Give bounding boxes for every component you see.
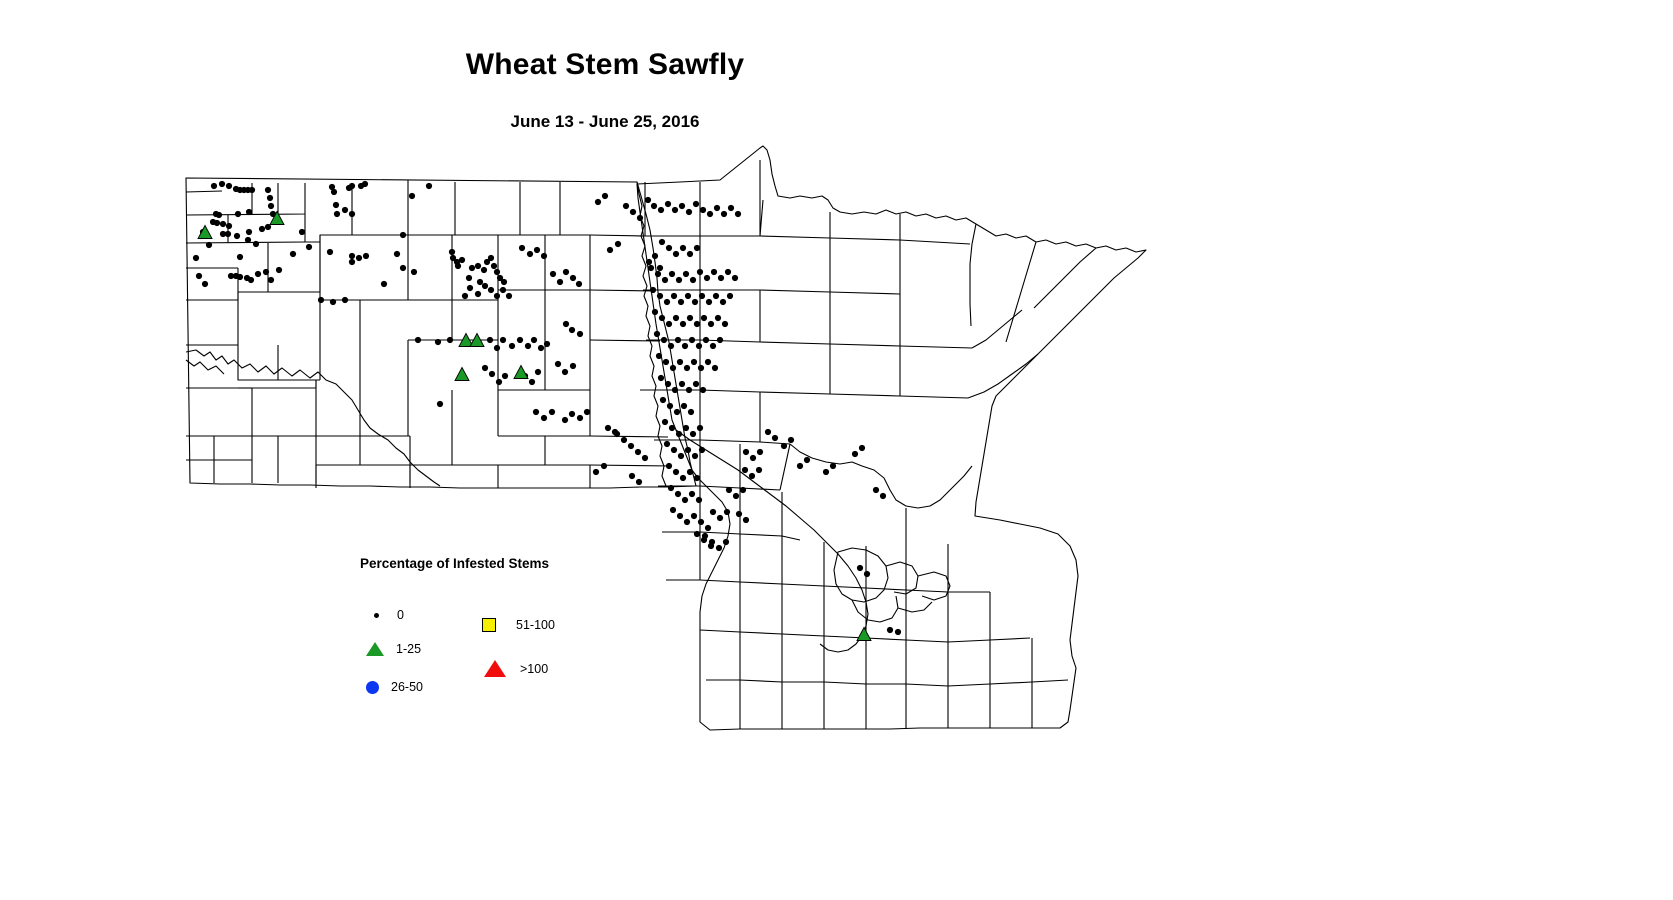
map-marker-0 bbox=[757, 449, 763, 455]
map-marker-0 bbox=[246, 209, 252, 215]
map-marker-0 bbox=[562, 417, 568, 423]
map-marker-0 bbox=[660, 397, 666, 403]
map-marker-0 bbox=[615, 241, 621, 247]
map-marker-0 bbox=[645, 197, 651, 203]
map-marker-0 bbox=[691, 513, 697, 519]
map-marker-0 bbox=[743, 449, 749, 455]
map-marker-0 bbox=[605, 425, 611, 431]
map-marker-0 bbox=[675, 491, 681, 497]
map-marker-0 bbox=[859, 445, 865, 451]
legend-item-51-100[interactable]: 51-100 bbox=[482, 618, 555, 632]
map-marker-0 bbox=[659, 315, 665, 321]
map-marker-0 bbox=[333, 202, 339, 208]
map-page: Wheat Stem Sawfly June 13 - June 25, 201… bbox=[0, 0, 1673, 900]
map-marker-0 bbox=[459, 257, 465, 263]
map-marker-0 bbox=[723, 539, 729, 545]
legend-item-0[interactable]: 0 bbox=[374, 608, 404, 622]
map-container bbox=[0, 0, 1673, 900]
legend-item-over-100[interactable]: >100 bbox=[484, 660, 548, 677]
map-marker-0 bbox=[462, 293, 468, 299]
map-marker-0 bbox=[501, 279, 507, 285]
map-marker-0 bbox=[263, 269, 269, 275]
map-marker-0 bbox=[657, 293, 663, 299]
map-marker-0 bbox=[716, 545, 722, 551]
map-marker-0 bbox=[666, 245, 672, 251]
map-marker-0 bbox=[349, 211, 355, 217]
map-marker-0 bbox=[494, 269, 500, 275]
map-marker-0 bbox=[489, 371, 495, 377]
map-marker-0 bbox=[318, 297, 324, 303]
map-marker-0 bbox=[727, 293, 733, 299]
map-marker-0 bbox=[541, 415, 547, 421]
map-marker-0 bbox=[694, 321, 700, 327]
map-marker-0 bbox=[481, 267, 487, 273]
map-marker-0 bbox=[680, 475, 686, 481]
map-marker-0 bbox=[676, 431, 682, 437]
legend-item-26-50[interactable]: 26-50 bbox=[366, 680, 423, 694]
map-marker-0 bbox=[707, 211, 713, 217]
map-marker-0 bbox=[334, 211, 340, 217]
map-marker-0 bbox=[534, 247, 540, 253]
map-marker-0 bbox=[569, 327, 575, 333]
map-marker-0 bbox=[577, 331, 583, 337]
map-marker-0 bbox=[721, 211, 727, 217]
map-marker-0 bbox=[662, 419, 668, 425]
map-marker-0 bbox=[663, 359, 669, 365]
map-marker-0 bbox=[713, 293, 719, 299]
map-marker-0 bbox=[550, 271, 556, 277]
map-marker-0 bbox=[211, 183, 217, 189]
map-marker-1-25 bbox=[455, 368, 469, 381]
map-marker-0 bbox=[678, 299, 684, 305]
legend-label-51-100: 51-100 bbox=[516, 618, 555, 632]
map-marker-0 bbox=[675, 337, 681, 343]
map-marker-0 bbox=[664, 441, 670, 447]
legend-label-over-100: >100 bbox=[520, 662, 548, 676]
map-marker-0 bbox=[684, 519, 690, 525]
map-marker-0 bbox=[202, 281, 208, 287]
map-marker-0 bbox=[409, 193, 415, 199]
map-marker-0 bbox=[665, 381, 671, 387]
map-marker-0 bbox=[475, 291, 481, 297]
map-marker-0 bbox=[686, 387, 692, 393]
map-marker-0 bbox=[400, 232, 406, 238]
map-marker-0 bbox=[496, 379, 502, 385]
map-marker-0 bbox=[697, 425, 703, 431]
map-marker-0 bbox=[584, 409, 590, 415]
map-marker-0 bbox=[873, 487, 879, 493]
map-marker-0 bbox=[690, 277, 696, 283]
map-marker-0 bbox=[544, 341, 550, 347]
map-marker-0 bbox=[435, 339, 441, 345]
map-marker-0 bbox=[715, 315, 721, 321]
map-marker-0 bbox=[411, 269, 417, 275]
map-marker-0 bbox=[685, 293, 691, 299]
map-marker-0 bbox=[259, 226, 265, 232]
map-marker-0 bbox=[555, 361, 561, 367]
map-marker-0 bbox=[570, 275, 576, 281]
map-marker-0 bbox=[772, 435, 778, 441]
map-marker-0 bbox=[673, 251, 679, 257]
map-marker-0 bbox=[830, 463, 836, 469]
map-marker-0 bbox=[525, 343, 531, 349]
map-marker-0 bbox=[265, 187, 271, 193]
map-marker-0 bbox=[717, 337, 723, 343]
legend: Percentage of Infested Stems 0 1-25 26-5… bbox=[360, 556, 680, 706]
map-marker-0 bbox=[708, 543, 714, 549]
map-marker-0 bbox=[679, 381, 685, 387]
map-marker-0 bbox=[788, 437, 794, 443]
map-marker-0 bbox=[823, 469, 829, 475]
map-marker-0 bbox=[698, 365, 704, 371]
map-marker-0 bbox=[682, 497, 688, 503]
map-marker-0 bbox=[394, 251, 400, 257]
map-marker-0 bbox=[749, 473, 755, 479]
map-marker-0 bbox=[666, 321, 672, 327]
map-marker-0 bbox=[699, 293, 705, 299]
map-marker-0 bbox=[226, 183, 232, 189]
map-marker-0 bbox=[196, 273, 202, 279]
map-marker-0 bbox=[623, 203, 629, 209]
map-marker-0 bbox=[595, 199, 601, 205]
map-marker-0 bbox=[864, 571, 870, 577]
map-marker-0 bbox=[726, 487, 732, 493]
map-marker-0 bbox=[226, 223, 232, 229]
map-marker-0 bbox=[732, 275, 738, 281]
map-marker-0 bbox=[690, 431, 696, 437]
map-marker-0 bbox=[630, 209, 636, 215]
map-marker-0 bbox=[699, 447, 705, 453]
map-marker-0 bbox=[245, 237, 251, 243]
map-marker-0 bbox=[694, 475, 700, 481]
map-marker-0 bbox=[330, 299, 336, 305]
map-marker-0 bbox=[684, 365, 690, 371]
map-marker-0 bbox=[502, 373, 508, 379]
map-marker-0 bbox=[255, 271, 261, 277]
map-marker-0 bbox=[693, 201, 699, 207]
map-marker-0 bbox=[710, 343, 716, 349]
map-marker-0 bbox=[670, 365, 676, 371]
map-marker-0 bbox=[447, 337, 453, 343]
map-marker-0 bbox=[488, 287, 494, 293]
map-marker-0 bbox=[781, 443, 787, 449]
map-marker-0 bbox=[500, 337, 506, 343]
map-marker-0 bbox=[668, 485, 674, 491]
map-marker-0 bbox=[642, 455, 648, 461]
map-marker-0 bbox=[887, 627, 893, 633]
map-marker-0 bbox=[214, 220, 220, 226]
map-marker-0 bbox=[363, 253, 369, 259]
green-triangle-marker-icon bbox=[366, 642, 384, 656]
map-marker-0 bbox=[676, 277, 682, 283]
map-marker-0 bbox=[306, 244, 312, 250]
map-marker-0 bbox=[400, 265, 406, 271]
map-marker-0 bbox=[450, 255, 456, 261]
map-marker-0 bbox=[237, 274, 243, 280]
map-marker-0 bbox=[531, 337, 537, 343]
map-marker-0 bbox=[692, 299, 698, 305]
map-marker-0 bbox=[234, 233, 240, 239]
map-marker-0 bbox=[509, 343, 515, 349]
map-marker-0 bbox=[506, 293, 512, 299]
map-marker-0 bbox=[701, 537, 707, 543]
map-marker-0 bbox=[491, 263, 497, 269]
map-marker-0 bbox=[655, 271, 661, 277]
map-marker-0 bbox=[426, 183, 432, 189]
map-marker-0 bbox=[477, 279, 483, 285]
map-marker-0 bbox=[349, 259, 355, 265]
map-marker-0 bbox=[765, 429, 771, 435]
map-marker-0 bbox=[671, 447, 677, 453]
map-marker-0 bbox=[698, 519, 704, 525]
map-marker-0 bbox=[692, 453, 698, 459]
map-marker-0 bbox=[220, 221, 226, 227]
map-marker-0 bbox=[714, 205, 720, 211]
map-marker-0 bbox=[607, 247, 613, 253]
map-marker-0 bbox=[576, 281, 582, 287]
map-marker-0 bbox=[725, 269, 731, 275]
map-marker-0 bbox=[494, 293, 500, 299]
map-marker-0 bbox=[362, 181, 368, 187]
map-marker-0 bbox=[569, 411, 575, 417]
map-marker-0 bbox=[541, 253, 547, 259]
map-marker-0 bbox=[682, 343, 688, 349]
map-marker-0 bbox=[656, 353, 662, 359]
map-marker-0 bbox=[290, 251, 296, 257]
map-marker-0 bbox=[736, 511, 742, 517]
map-marker-0 bbox=[535, 369, 541, 375]
map-marker-0 bbox=[706, 299, 712, 305]
map-marker-0 bbox=[216, 212, 222, 218]
map-marker-0 bbox=[237, 254, 243, 260]
red-triangle-marker-icon bbox=[484, 660, 506, 677]
map-marker-0 bbox=[654, 331, 660, 337]
map-marker-0 bbox=[299, 229, 305, 235]
map-marker-0 bbox=[895, 629, 901, 635]
map-marker-0 bbox=[557, 279, 563, 285]
map-marker-0 bbox=[712, 365, 718, 371]
yellow-square-marker-icon bbox=[482, 618, 496, 632]
map-marker-0 bbox=[529, 379, 535, 385]
map-marker-0 bbox=[651, 203, 657, 209]
map-marker-0 bbox=[488, 255, 494, 261]
map-marker-0 bbox=[469, 265, 475, 271]
legend-title: Percentage of Infested Stems bbox=[360, 556, 549, 571]
map-marker-0 bbox=[668, 343, 674, 349]
map-marker-0 bbox=[804, 457, 810, 463]
map-marker-0 bbox=[700, 207, 706, 213]
map-marker-0 bbox=[602, 193, 608, 199]
map-marker-0 bbox=[253, 241, 259, 247]
map-marker-0 bbox=[740, 487, 746, 493]
map-marker-0 bbox=[694, 245, 700, 251]
map-marker-0 bbox=[689, 491, 695, 497]
map-marker-0 bbox=[206, 242, 212, 248]
map-marker-0 bbox=[467, 285, 473, 291]
map-marker-0 bbox=[689, 337, 695, 343]
map-marker-0 bbox=[724, 509, 730, 515]
county-boundaries bbox=[186, 178, 696, 488]
map-marker-0 bbox=[669, 425, 675, 431]
map-marker-0 bbox=[331, 189, 337, 195]
map-marker-0 bbox=[720, 299, 726, 305]
map-marker-0 bbox=[650, 287, 656, 293]
map-marker-0 bbox=[665, 201, 671, 207]
map-marker-0 bbox=[685, 447, 691, 453]
map-marker-0 bbox=[500, 287, 506, 293]
map-marker-0 bbox=[703, 337, 709, 343]
legend-item-1-25[interactable]: 1-25 bbox=[366, 642, 421, 656]
map-marker-0 bbox=[267, 195, 273, 201]
map-marker-0 bbox=[705, 525, 711, 531]
map-marker-0 bbox=[482, 283, 488, 289]
map-marker-0 bbox=[636, 479, 642, 485]
map-marker-0 bbox=[670, 507, 676, 513]
map-marker-0 bbox=[517, 337, 523, 343]
map-marker-0 bbox=[533, 409, 539, 415]
map-marker-0 bbox=[437, 401, 443, 407]
map-marker-0 bbox=[696, 343, 702, 349]
map-marker-0 bbox=[666, 463, 672, 469]
map-marker-0 bbox=[635, 449, 641, 455]
map-marker-0 bbox=[722, 321, 728, 327]
map-marker-0 bbox=[225, 231, 231, 237]
map-marker-0 bbox=[679, 203, 685, 209]
map-marker-0 bbox=[673, 469, 679, 475]
map-marker-0 bbox=[693, 381, 699, 387]
map-marker-0 bbox=[648, 265, 654, 271]
map-marker-0 bbox=[704, 275, 710, 281]
map-marker-0 bbox=[455, 263, 461, 269]
map-marker-0 bbox=[691, 359, 697, 365]
map-marker-0 bbox=[688, 409, 694, 415]
map-marker-0 bbox=[487, 337, 493, 343]
map-marker-0 bbox=[852, 451, 858, 457]
map-marker-0 bbox=[669, 271, 675, 277]
legend-label-0: 0 bbox=[397, 608, 404, 622]
map-marker-0 bbox=[276, 267, 282, 273]
map-marker-0 bbox=[652, 253, 658, 259]
map-marker-0 bbox=[563, 269, 569, 275]
map-marker-0 bbox=[664, 299, 670, 305]
map-marker-0 bbox=[570, 363, 576, 369]
map-marker-0 bbox=[658, 375, 664, 381]
map-marker-0 bbox=[681, 403, 687, 409]
map-marker-0 bbox=[694, 531, 700, 537]
map-marker-0 bbox=[381, 281, 387, 287]
map-marker-0 bbox=[678, 453, 684, 459]
map-marker-0 bbox=[742, 467, 748, 473]
map-marker-0 bbox=[415, 337, 421, 343]
map-marker-0 bbox=[646, 259, 652, 265]
map-marker-0 bbox=[696, 497, 702, 503]
map-marker-0 bbox=[700, 387, 706, 393]
map-marker-0 bbox=[268, 203, 274, 209]
map-marker-0 bbox=[735, 211, 741, 217]
map-marker-0 bbox=[612, 429, 618, 435]
map-marker-0 bbox=[880, 493, 886, 499]
map-marker-0 bbox=[728, 205, 734, 211]
map-marker-0 bbox=[680, 245, 686, 251]
map-marker-0 bbox=[662, 277, 668, 283]
map-marker-0 bbox=[701, 315, 707, 321]
map-marker-0 bbox=[673, 315, 679, 321]
map-marker-0 bbox=[235, 211, 241, 217]
map-marker-0 bbox=[743, 517, 749, 523]
map-marker-0 bbox=[674, 409, 680, 415]
map-marker-0 bbox=[708, 321, 714, 327]
map-marker-0 bbox=[677, 513, 683, 519]
map-marker-0 bbox=[449, 249, 455, 255]
map-marker-0 bbox=[482, 365, 488, 371]
map-marker-0 bbox=[683, 425, 689, 431]
map-marker-0 bbox=[527, 251, 533, 257]
map-marker-0 bbox=[629, 473, 635, 479]
map-marker-0 bbox=[466, 275, 472, 281]
map-marker-0 bbox=[246, 229, 252, 235]
map-marker-0 bbox=[717, 515, 723, 521]
map-marker-0 bbox=[718, 275, 724, 281]
map-marker-0 bbox=[342, 207, 348, 213]
map-marker-0 bbox=[686, 209, 692, 215]
map-marker-0 bbox=[711, 269, 717, 275]
map-marker-0 bbox=[687, 315, 693, 321]
map-marker-0 bbox=[549, 409, 555, 415]
minnesota-boundaries bbox=[637, 146, 1146, 730]
map-marker-0 bbox=[683, 271, 689, 277]
map-marker-0 bbox=[628, 443, 634, 449]
map-marker-1-25 bbox=[514, 366, 528, 379]
blue-circle-marker-icon bbox=[366, 681, 379, 694]
state-county-map bbox=[0, 0, 1673, 900]
map-marker-0 bbox=[659, 239, 665, 245]
map-marker-0 bbox=[577, 415, 583, 421]
map-marker-0 bbox=[697, 269, 703, 275]
map-marker-0 bbox=[621, 437, 627, 443]
map-marker-0 bbox=[671, 293, 677, 299]
map-marker-0 bbox=[661, 337, 667, 343]
map-marker-0 bbox=[346, 185, 352, 191]
map-marker-0 bbox=[519, 245, 525, 251]
map-marker-0 bbox=[750, 455, 756, 461]
map-marker-0 bbox=[193, 255, 199, 261]
map-marker-0 bbox=[672, 387, 678, 393]
legend-label-1-25: 1-25 bbox=[396, 642, 421, 656]
map-marker-0 bbox=[248, 277, 254, 283]
map-marker-0 bbox=[219, 181, 225, 187]
map-marker-0 bbox=[538, 345, 544, 351]
map-marker-0 bbox=[733, 493, 739, 499]
map-marker-0 bbox=[756, 467, 762, 473]
map-marker-0 bbox=[327, 249, 333, 255]
map-marker-0 bbox=[857, 565, 863, 571]
map-marker-0 bbox=[677, 359, 683, 365]
map-marker-0 bbox=[680, 321, 686, 327]
map-marker-0 bbox=[249, 187, 255, 193]
map-marker-0 bbox=[687, 469, 693, 475]
legend-label-26-50: 26-50 bbox=[391, 680, 423, 694]
map-marker-0 bbox=[356, 255, 362, 261]
map-marker-0 bbox=[657, 265, 663, 271]
map-marker-1-25 bbox=[857, 628, 871, 641]
map-marker-0 bbox=[797, 463, 803, 469]
map-marker-0 bbox=[710, 509, 716, 515]
dot-marker-icon bbox=[374, 613, 379, 618]
map-marker-0 bbox=[494, 345, 500, 351]
map-marker-0 bbox=[593, 469, 599, 475]
map-marker-0 bbox=[658, 207, 664, 213]
map-marker-0 bbox=[562, 369, 568, 375]
